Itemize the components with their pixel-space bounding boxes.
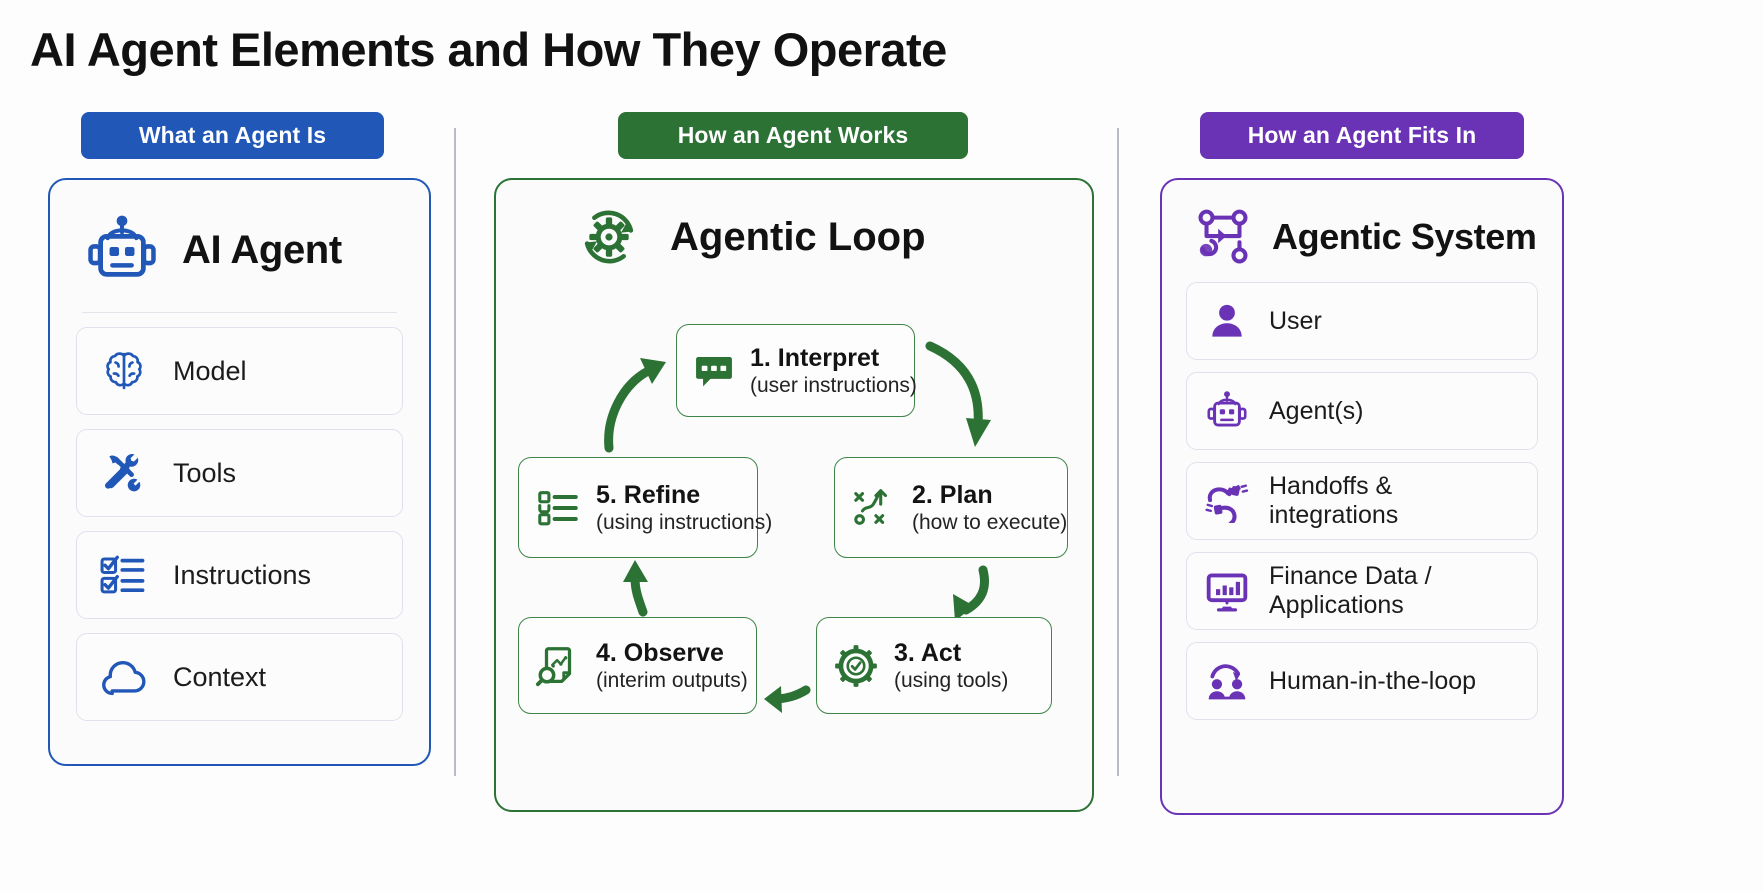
chat-bubble-icon xyxy=(693,350,735,392)
list-item-label: Human-in-the-loop xyxy=(1269,667,1476,696)
user-icon xyxy=(1205,299,1249,343)
list-item-tools[interactable]: Tools xyxy=(76,429,403,517)
panel-agentic-loop: Agentic Loop xyxy=(494,178,1094,812)
list-item-human-in-the-loop[interactable]: Human-in-the-loop xyxy=(1186,642,1538,720)
infographic-canvas: AI Agent Elements and How They Operate W… xyxy=(0,0,1763,892)
pill-how-an-agent-fits-in[interactable]: How an Agent Fits In xyxy=(1200,112,1524,159)
network-nodes-icon xyxy=(1192,206,1254,268)
list-item-label: Tools xyxy=(173,458,236,489)
panel-agentic-system: Agentic System User xyxy=(1160,178,1564,815)
loop-step-subtitle: (how to execute) xyxy=(912,511,1067,535)
document-magnifier-icon xyxy=(535,643,581,689)
loop-step-subtitle: (using instructions) xyxy=(596,511,772,535)
loop-step-plan[interactable]: 2. Plan (how to execute) xyxy=(834,457,1068,558)
loop-step-title: 3. Act xyxy=(894,639,1008,668)
list-item-agents[interactable]: Agent(s) xyxy=(1186,372,1538,450)
column-what-an-agent-is: What an Agent Is AI A xyxy=(48,112,431,766)
column-divider-2 xyxy=(1117,128,1119,776)
list-item-label: Finance Data / Applications xyxy=(1269,562,1519,620)
strategy-icon xyxy=(851,485,897,531)
loop-step-subtitle: (interim outputs) xyxy=(596,669,748,693)
loop-step-title: 2. Plan xyxy=(912,481,1067,510)
loop-step-subtitle: (user instructions) xyxy=(750,374,917,398)
page-title: AI Agent Elements and How They Operate xyxy=(30,22,947,77)
list-item-model[interactable]: Model xyxy=(76,327,403,415)
agentic-loop-header: Agentic Loop xyxy=(496,180,1092,272)
column-how-an-agent-works: How an Agent Works xyxy=(494,112,1094,812)
pill-what-an-agent-is[interactable]: What an Agent Is xyxy=(81,112,384,159)
loop-step-observe[interactable]: 4. Observe (interim outputs) xyxy=(518,617,757,714)
list-item-label: Instructions xyxy=(173,560,311,591)
agentic-loop-heading: Agentic Loop xyxy=(670,215,926,260)
panel-ai-agent: AI Agent Model xyxy=(48,178,431,766)
plug-connectors-icon xyxy=(1205,479,1249,523)
tools-icon xyxy=(97,446,151,500)
list-item-label: User xyxy=(1269,307,1322,336)
loop-step-subtitle: (using tools) xyxy=(894,669,1008,693)
gear-check-icon xyxy=(833,643,879,689)
list-item-handoffs[interactable]: Handoffs & integrations xyxy=(1186,462,1538,540)
column-how-an-agent-fits-in: How an Agent Fits In xyxy=(1160,112,1564,815)
agentic-system-header: Agentic System xyxy=(1186,200,1538,282)
list-item-label: Agent(s) xyxy=(1269,397,1363,426)
list-item-user[interactable]: User xyxy=(1186,282,1538,360)
ai-agent-heading: AI Agent xyxy=(182,228,342,273)
header-divider xyxy=(82,312,397,313)
list-item-finance-data[interactable]: Finance Data / Applications xyxy=(1186,552,1538,630)
pill-how-an-agent-works[interactable]: How an Agent Works xyxy=(618,112,968,159)
agentic-system-heading: Agentic System xyxy=(1272,216,1537,258)
list-item-label: Model xyxy=(173,356,247,387)
list-item-instructions[interactable]: Instructions xyxy=(76,531,403,619)
task-list-icon xyxy=(535,485,581,531)
cloud-icon xyxy=(97,650,151,704)
column-divider-1 xyxy=(454,128,456,776)
loop-step-title: 4. Observe xyxy=(596,639,748,668)
people-loop-icon xyxy=(1205,659,1249,703)
loop-step-refine[interactable]: 5. Refine (using instructions) xyxy=(518,457,758,558)
robot-icon xyxy=(1205,389,1249,433)
checklist-icon xyxy=(97,548,151,602)
list-item-context[interactable]: Context xyxy=(76,633,403,721)
loop-step-title: 5. Refine xyxy=(596,481,772,510)
agentic-loop-diagram: 1. Interpret (user instructions) xyxy=(496,272,1092,792)
gear-refresh-icon xyxy=(574,202,644,272)
brain-icon xyxy=(97,344,151,398)
loop-step-act[interactable]: 3. Act (using tools) xyxy=(816,617,1052,714)
loop-step-title: 1. Interpret xyxy=(750,344,917,373)
robot-icon xyxy=(84,212,160,288)
list-item-label: Context xyxy=(173,662,266,693)
ai-agent-header: AI Agent xyxy=(76,202,403,292)
loop-step-interpret[interactable]: 1. Interpret (user instructions) xyxy=(676,324,915,417)
monitor-chart-icon xyxy=(1205,569,1249,613)
list-item-label: Handoffs & integrations xyxy=(1269,472,1519,530)
